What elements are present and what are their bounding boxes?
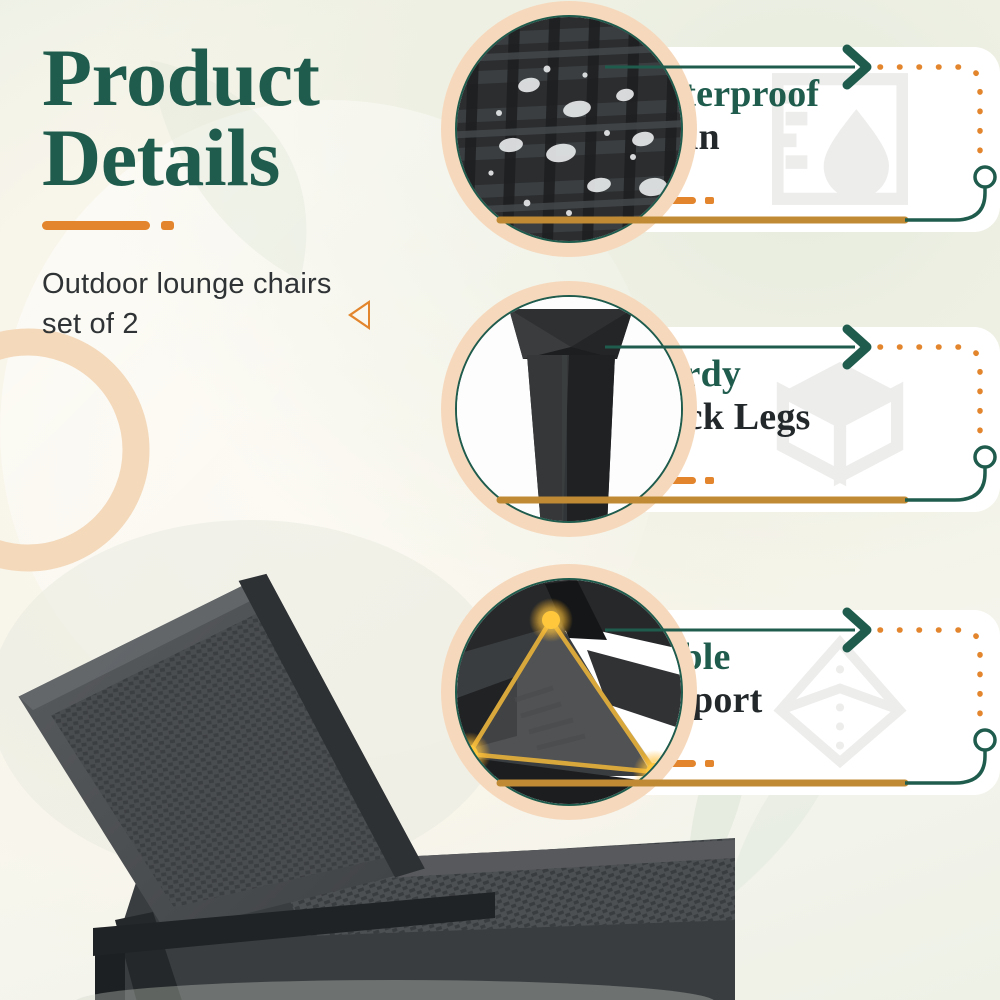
feature-rule-dot	[705, 197, 714, 204]
feature-row-sturdy-thick-legs: Sturdy Thick Legs	[455, 295, 1000, 545]
corner-node-icon	[542, 611, 560, 629]
woven-resin-texture-photo	[455, 15, 683, 243]
title-rule-dot	[161, 221, 174, 230]
page-title: Product Details	[42, 38, 462, 199]
page-subtitle: Outdoor lounge chairs set of 2	[42, 264, 342, 344]
title-rule-dash	[42, 221, 150, 230]
heading-block: Product Details Outdoor lounge chairs se…	[42, 38, 462, 344]
title-rule	[42, 221, 462, 230]
pyramid-icon	[772, 634, 908, 770]
left-triangle-outline-icon	[348, 300, 370, 330]
page-title-line2: Details	[42, 118, 462, 198]
feature-rule-dot	[705, 477, 714, 484]
chair-leg-photo	[455, 295, 683, 523]
feature-row-waterproof-resin: Waterproof Resin	[455, 15, 1000, 265]
page-title-line1: Product	[42, 32, 319, 123]
triangular-frame-photo	[455, 578, 683, 806]
infographic-canvas: Product Details Outdoor lounge chairs se…	[0, 0, 1000, 1000]
